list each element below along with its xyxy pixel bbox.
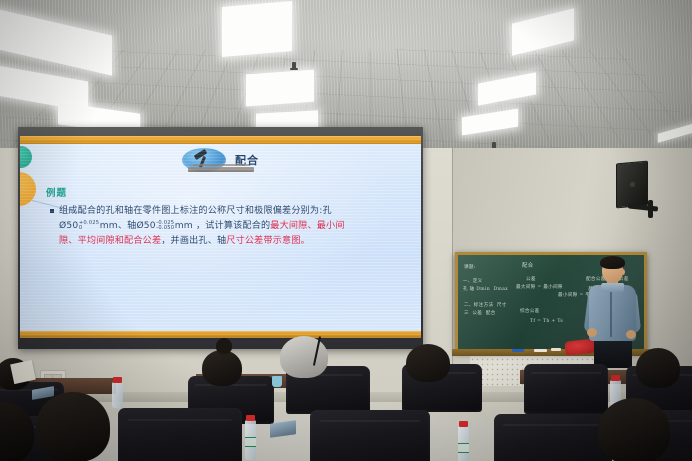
laptop: [270, 420, 296, 438]
audience-head: [202, 350, 242, 386]
speaker-bracket-post: [648, 200, 653, 218]
chalk-text-center: 综合公差: [520, 309, 540, 315]
chalk-text-left: 课题:: [464, 265, 476, 271]
water-bottle: [112, 382, 123, 408]
chalk-text-center: Tf = Th + Ts: [530, 319, 563, 325]
sprinkler-icon: [292, 62, 296, 70]
audience-head: [636, 348, 680, 388]
audience-head: [36, 392, 110, 461]
water-bottle: [245, 420, 256, 460]
chair: [524, 364, 608, 414]
lecture-hall-photo: 课题: 一、定义 孔 轴 Dmin Dmax 二、标注方法 尺寸 三 公差 配合…: [0, 0, 692, 461]
chalk-text-center: 公差: [526, 277, 536, 283]
bottle-cap: [113, 377, 122, 383]
chair: [118, 408, 242, 461]
bottle-cap: [246, 415, 255, 421]
audience-head: [598, 398, 670, 461]
projection-screen: 配合 例题 组成配合的孔和轴在零件图上标注的公称尺寸和极限偏差分别为:孔 Ø50…: [18, 127, 423, 349]
chair: [310, 410, 430, 461]
cup: [272, 376, 282, 387]
bottle-cap: [611, 375, 620, 381]
projector-scanlines: [20, 136, 421, 338]
chair: [494, 414, 612, 461]
lecturer-collar: [601, 283, 625, 292]
chalk-text-left: 二、标注方法 尺寸: [464, 303, 507, 309]
chalk-text-center: 最大间隙 = 最小间隙: [516, 285, 563, 291]
audience-area: [0, 330, 692, 461]
lecturer-ear: [621, 269, 625, 275]
chalk-text-left: 孔 轴 Dmin Dmax: [463, 287, 508, 293]
screen-surface: 配合 例题 组成配合的孔和轴在零件图上标注的公称尺寸和极限偏差分别为:孔 Ø50…: [20, 136, 421, 338]
chalk-text-left: 三 公差 配合: [464, 311, 496, 317]
audience-head: [216, 338, 232, 354]
audience-head: [406, 344, 450, 382]
chalk-text-left: 一、定义: [463, 279, 483, 285]
ceiling-light: [246, 70, 314, 107]
bottle-label: [245, 437, 256, 447]
bottle-label: [458, 443, 469, 453]
chalk-text-center: 配合: [522, 263, 533, 269]
audience-head-gray: [280, 336, 328, 378]
water-bottle: [458, 426, 469, 461]
ceiling-light: [222, 1, 292, 57]
bottle-cap: [459, 421, 468, 427]
wall-speaker: [616, 161, 648, 209]
lecturer-hair: [600, 256, 625, 269]
